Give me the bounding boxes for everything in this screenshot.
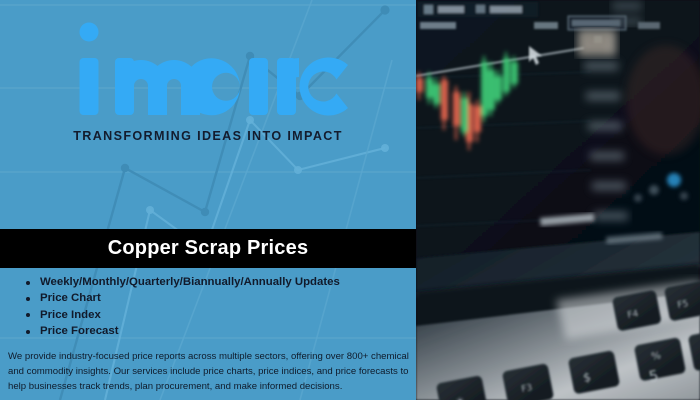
list-item: Weekly/Monthly/Quarterly/Biannually/Annu… xyxy=(26,274,416,290)
brand-tagline: TRANSFORMING IDEAS INTO IMPACT xyxy=(0,129,416,143)
list-item: Price Index xyxy=(26,307,416,323)
feature-list: Weekly/Monthly/Quarterly/Biannually/Annu… xyxy=(0,274,416,340)
imarc-logo-icon xyxy=(67,18,349,118)
promo-banner: TRANSFORMING IDEAS INTO IMPACT Copper Sc… xyxy=(0,0,700,400)
list-item: Price Chart xyxy=(26,290,416,306)
left-content-panel: TRANSFORMING IDEAS INTO IMPACT Copper Sc… xyxy=(0,0,416,400)
laptop-photo-illustration: F4 F5 ☀ F3 $ % 5 xyxy=(416,0,700,400)
list-item: Price Forecast xyxy=(26,323,416,339)
page-title: Copper Scrap Prices xyxy=(108,237,309,260)
title-band: Copper Scrap Prices xyxy=(0,229,416,268)
description-paragraph: We provide industry-focused price report… xyxy=(8,349,412,394)
brand-logo-block: TRANSFORMING IDEAS INTO IMPACT xyxy=(0,18,416,143)
imarc-wordmark xyxy=(67,18,349,118)
laptop-trading-photo: F4 F5 ☀ F3 $ % 5 xyxy=(416,0,700,400)
